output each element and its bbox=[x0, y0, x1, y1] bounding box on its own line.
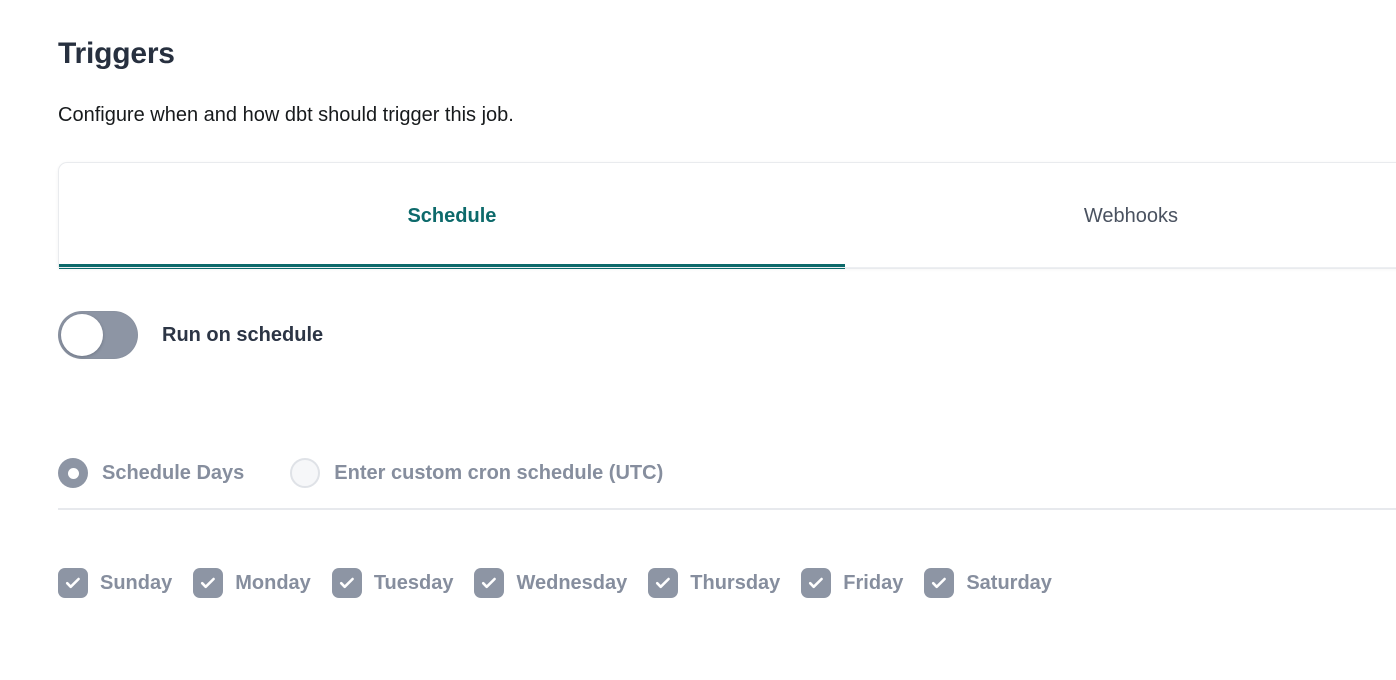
radio-label-schedule-days: Schedule Days bbox=[102, 460, 244, 486]
day-label-sunday: Sunday bbox=[100, 570, 172, 596]
checkbox-checked-icon[interactable] bbox=[193, 568, 223, 598]
tab-webhooks[interactable]: Webhooks bbox=[845, 163, 1396, 268]
day-option-sunday[interactable]: Sunday bbox=[58, 568, 172, 598]
schedule-divider bbox=[58, 508, 1396, 510]
day-label-tuesday: Tuesday bbox=[374, 570, 454, 596]
checkbox-checked-icon[interactable] bbox=[474, 568, 504, 598]
day-option-wednesday[interactable]: Wednesday bbox=[474, 568, 627, 598]
run-on-schedule-toggle[interactable] bbox=[58, 311, 138, 359]
day-label-saturday: Saturday bbox=[966, 570, 1052, 596]
radio-label-custom-cron: Enter custom cron schedule (UTC) bbox=[334, 460, 663, 486]
checkbox-checked-icon[interactable] bbox=[648, 568, 678, 598]
day-label-wednesday: Wednesday bbox=[516, 570, 627, 596]
tab-bar-bottom-border bbox=[58, 267, 1396, 268]
day-option-saturday[interactable]: Saturday bbox=[924, 568, 1052, 598]
checkbox-checked-icon[interactable] bbox=[924, 568, 954, 598]
page-title: Triggers bbox=[58, 34, 175, 74]
tab-webhooks-label: Webhooks bbox=[1084, 203, 1178, 229]
day-option-tuesday[interactable]: Tuesday bbox=[332, 568, 454, 598]
schedule-mode-radio-group: Schedule Days Enter custom cron schedule… bbox=[58, 458, 663, 488]
triggers-page: Triggers Configure when and how dbt shou… bbox=[0, 0, 1396, 680]
radio-selected-icon[interactable] bbox=[58, 458, 88, 488]
radio-option-schedule-days[interactable]: Schedule Days bbox=[58, 458, 244, 488]
tab-schedule-label: Schedule bbox=[407, 203, 496, 229]
tab-schedule[interactable]: Schedule bbox=[59, 163, 845, 268]
checkbox-checked-icon[interactable] bbox=[332, 568, 362, 598]
day-label-monday: Monday bbox=[235, 570, 311, 596]
toggle-knob-icon bbox=[61, 314, 103, 356]
day-option-monday[interactable]: Monday bbox=[193, 568, 311, 598]
page-subtitle: Configure when and how dbt should trigge… bbox=[58, 100, 514, 130]
checkbox-checked-icon[interactable] bbox=[801, 568, 831, 598]
triggers-tab-bar: Schedule Webhooks bbox=[58, 162, 1396, 268]
day-label-thursday: Thursday bbox=[690, 570, 780, 596]
schedule-days-group: Sunday Monday Tuesday Wednesday Thursday bbox=[58, 568, 1052, 598]
checkbox-checked-icon[interactable] bbox=[58, 568, 88, 598]
radio-option-custom-cron[interactable]: Enter custom cron schedule (UTC) bbox=[290, 458, 663, 488]
day-option-friday[interactable]: Friday bbox=[801, 568, 903, 598]
radio-unselected-icon[interactable] bbox=[290, 458, 320, 488]
run-on-schedule-row: Run on schedule bbox=[58, 311, 323, 359]
day-option-thursday[interactable]: Thursday bbox=[648, 568, 780, 598]
day-label-friday: Friday bbox=[843, 570, 903, 596]
run-on-schedule-label: Run on schedule bbox=[162, 322, 323, 348]
